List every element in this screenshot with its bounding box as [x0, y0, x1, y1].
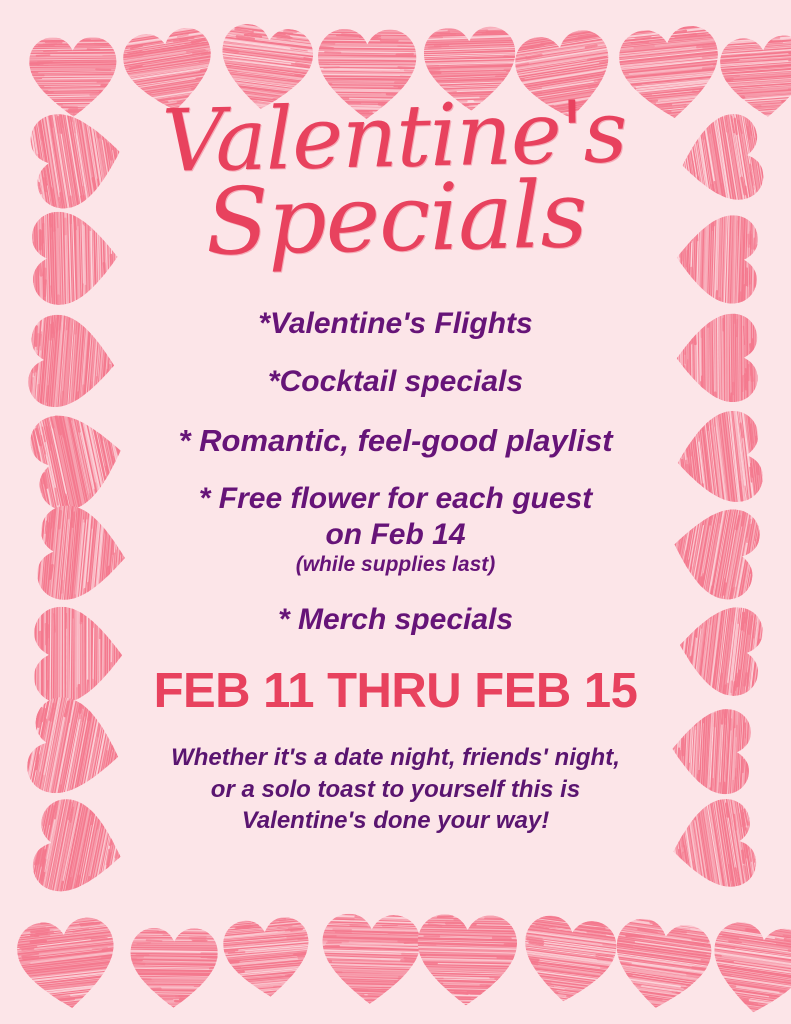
heart-icon [10, 908, 125, 1016]
heart-icon [25, 31, 121, 119]
specials-item: * Merch specials [118, 605, 673, 635]
heart-icon [674, 209, 765, 308]
title-line-2: Specials [163, 170, 629, 268]
heart-icon [714, 28, 791, 122]
date-range: FEB 11 THRU FEB 15 [154, 667, 638, 716]
specials-item: *Cocktail specials [118, 367, 673, 397]
supplies-disclaimer: (while supplies last) [118, 554, 673, 575]
heart-icon [670, 404, 772, 513]
closing-blurb: Whether it's a date night, friends' nigh… [171, 742, 620, 837]
page-title: Valentine's Specials [162, 91, 630, 268]
heart-icon [673, 106, 773, 212]
heart-icon [668, 703, 758, 800]
heart-icon [674, 309, 763, 406]
specials-item-continuation: on Feb 14 [118, 520, 673, 550]
heart-icon [702, 912, 791, 1022]
blurb-line-2: or a solo toast to yourself this is [171, 774, 620, 806]
heart-icon [16, 688, 131, 809]
heart-icon [21, 789, 132, 906]
heart-icon [20, 308, 120, 415]
heart-icon [25, 206, 121, 310]
heart-icon [19, 400, 134, 521]
specials-item: * Free flower for each guest [118, 484, 673, 514]
specials-item: *Valentine's Flights [118, 309, 673, 339]
heart-icon [664, 496, 771, 609]
heart-icon [19, 101, 129, 218]
blurb-line-1: Whether it's a date night, friends' nigh… [171, 742, 620, 774]
poster-content: Valentine's Specials *Valentine's Flight… [118, 0, 673, 1024]
blurb-line-3: Valentine's done your way! [171, 805, 620, 837]
valentines-specials-poster: Valentine's Specials *Valentine's Flight… [0, 0, 791, 1024]
heart-icon [664, 791, 766, 899]
heart-icon [28, 498, 131, 609]
specials-list: *Valentine's Flights *Cocktail specials … [118, 309, 673, 663]
specials-item: * Romantic, feel-good playlist [118, 425, 673, 456]
heart-icon [28, 602, 125, 707]
heart-icon [672, 596, 771, 702]
